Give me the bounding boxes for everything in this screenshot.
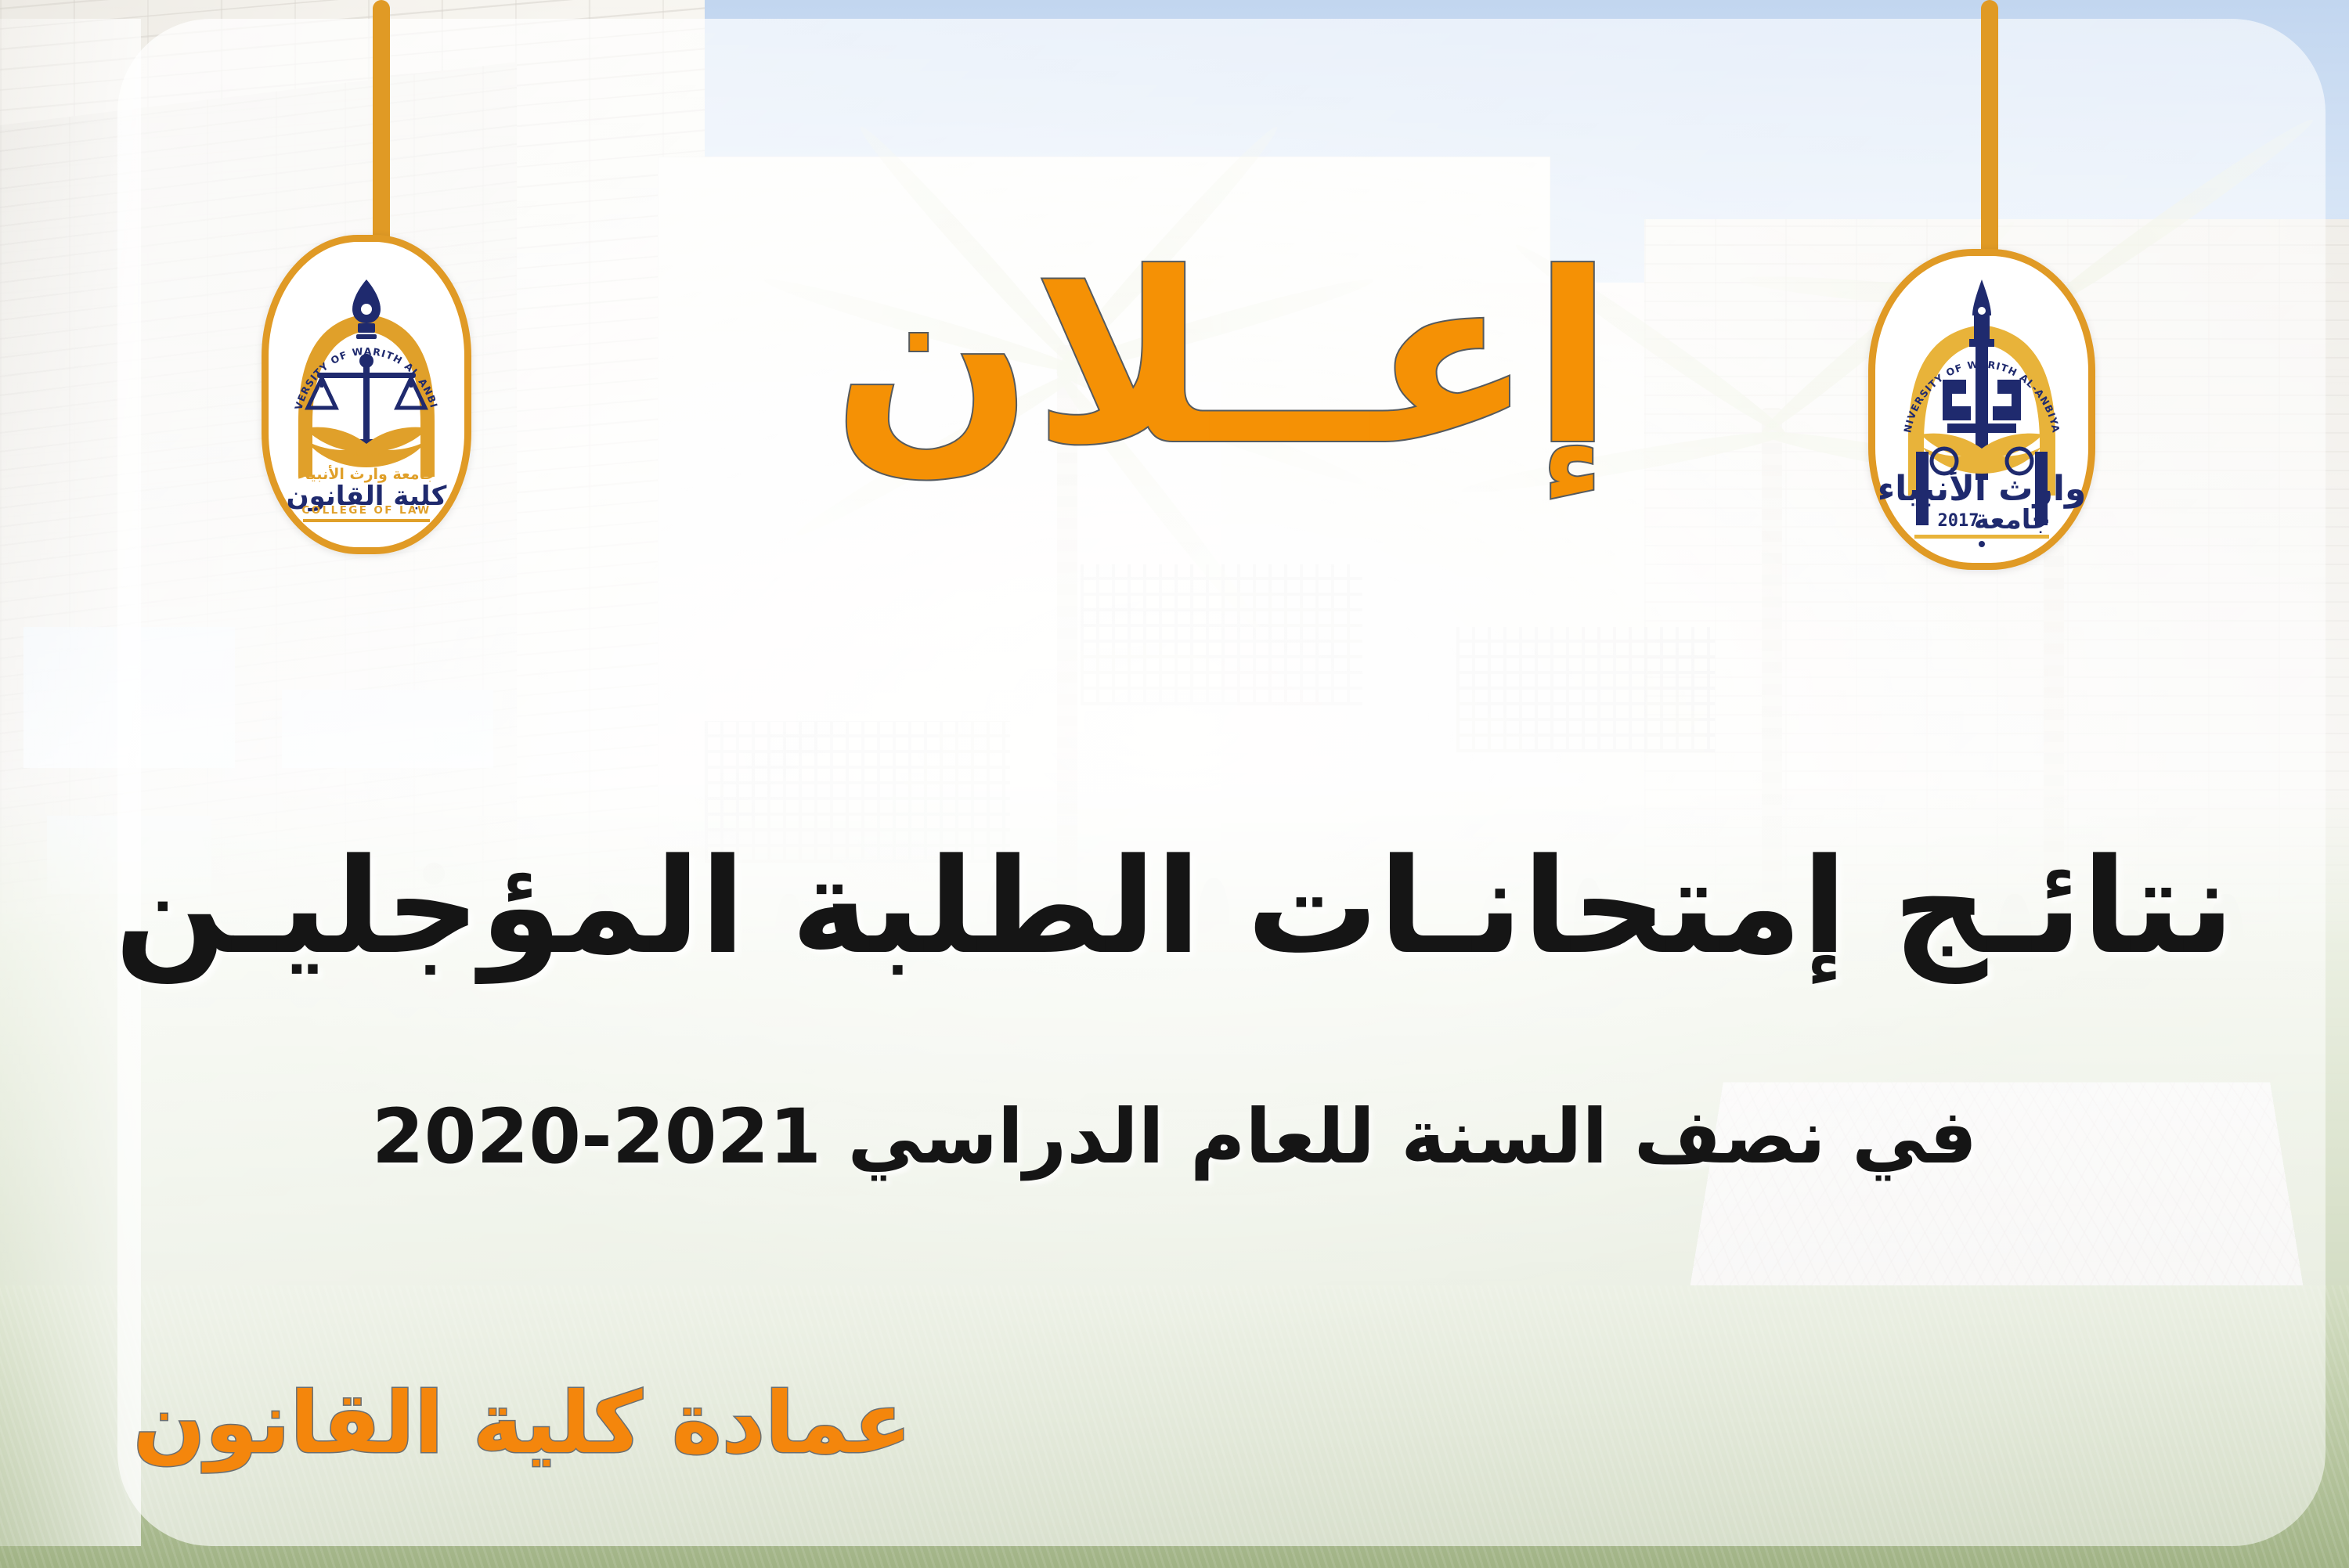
announcement-poster: UNIVERSITY OF WARITH AL ANBIYAA: [0, 0, 2349, 1568]
card-left-band: [0, 19, 141, 1546]
university-emblem: UNIVERSITY OF WARITH AL-ANBIYAA وارث الأ…: [1875, 256, 2088, 563]
logo-dot-right: [1979, 541, 1985, 547]
headline: نتائـج إمتحانـات الطلبة المؤجليـن: [0, 838, 2349, 975]
logo-hanger-left: [373, 0, 390, 258]
logo-arabic-name-right: وارث الأنبياء: [1878, 467, 2087, 509]
logo-arabic-super-left: عليه السلام: [352, 451, 381, 458]
logo-arabic-jamia-right: جامعة: [1974, 504, 2051, 535]
logo-year-right: 2017: [1938, 511, 1979, 531]
announcement-word: إعــلان: [846, 243, 1613, 478]
logo-badge-right: UNIVERSITY OF WARITH AL-ANBIYAA وارث الأ…: [1868, 249, 2095, 570]
college-of-law-logo[interactable]: UNIVERSITY OF WARITH AL ANBIYAA: [276, 235, 471, 540]
logo-hanger-right: [1981, 0, 1998, 274]
logo-badge-left: UNIVERSITY OF WARITH AL ANBIYAA: [262, 235, 471, 554]
footer-signature: عمادة كلية القانون: [133, 1378, 911, 1471]
university-logo[interactable]: UNIVERSITY OF WARITH AL-ANBIYAA وارث الأ…: [1882, 249, 2095, 556]
subtitle: في نصف السنة للعام الدراسي 2021-2020: [0, 1096, 2349, 1179]
logo-underline-right: [1914, 535, 2049, 539]
logo-english-college-left: COLLEGE OF LAW: [301, 504, 431, 517]
logo-underline-left: [303, 519, 430, 522]
college-of-law-emblem: UNIVERSITY OF WARITH AL ANBIYAA: [269, 242, 464, 547]
